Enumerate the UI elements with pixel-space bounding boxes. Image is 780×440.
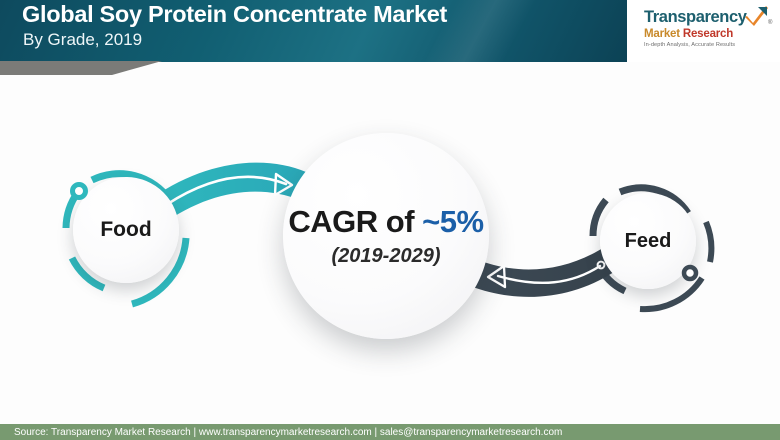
node-food-label: Food — [100, 218, 151, 242]
node-feed[interactable]: Feed — [600, 193, 696, 289]
cagr-prefix-label: CAGR of — [288, 204, 422, 239]
node-food[interactable]: Food — [73, 177, 179, 283]
node-center-cagr[interactable]: CAGR of ~5% (2019-2029) — [283, 133, 489, 339]
cagr-period-label: (2019-2029) — [332, 245, 441, 268]
infographic-canvas: Global Soy Protein Concentrate Market By… — [0, 0, 780, 440]
connector-center-to-feed — [470, 246, 614, 297]
node-feed-label: Feed — [625, 230, 672, 253]
cagr-value-line: CAGR of ~5% — [288, 204, 483, 240]
cagr-percent-value: ~5% — [422, 204, 483, 239]
